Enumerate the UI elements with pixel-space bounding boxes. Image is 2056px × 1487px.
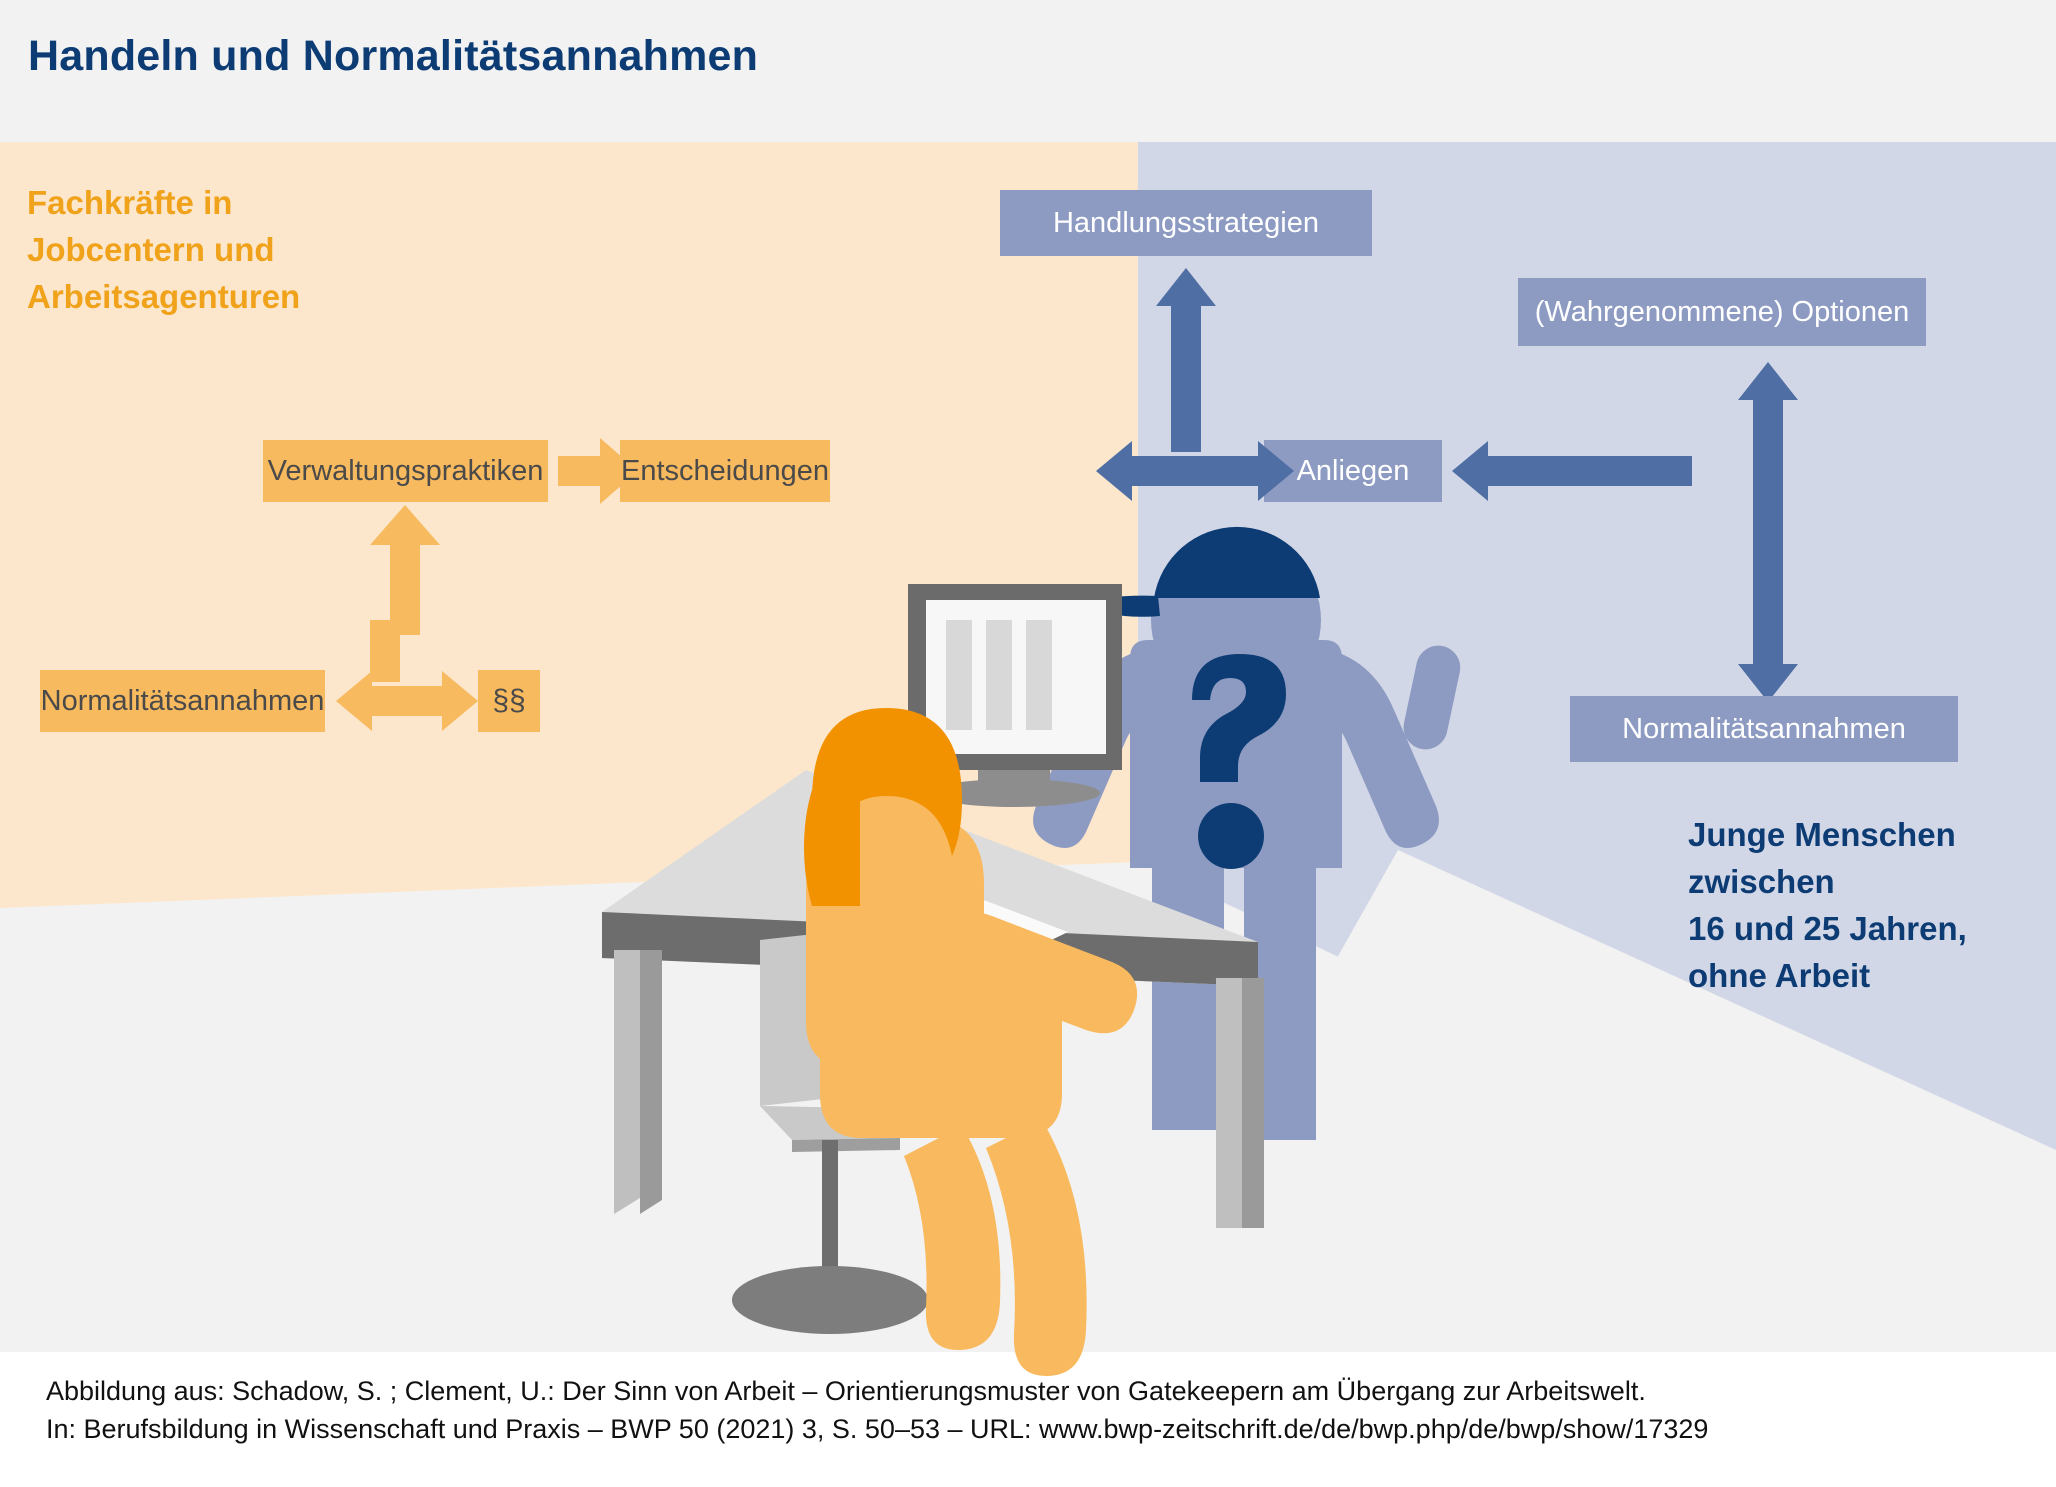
box-paragraphen[interactable]: §§	[478, 670, 540, 732]
left-group-label-line1: Fachkräfte in	[27, 180, 300, 227]
arrow-optionen-to-anliegen	[1452, 456, 1742, 486]
arrow-normalitaetsannahmen-to-verwaltungspraktiken	[370, 505, 440, 635]
arrow-stem-vertical-orange	[370, 620, 400, 682]
arrow-entscheidungen-anliegen	[1096, 456, 1294, 486]
left-group-label-line2: Jobcentern und	[27, 227, 300, 274]
source-caption-line2: In: Berufsbildung in Wissenschaft und Pr…	[46, 1410, 1708, 1448]
source-caption-line1: Abbildung aus: Schadow, S. ; Clement, U.…	[46, 1372, 1708, 1410]
box-verwaltungspraktiken[interactable]: Verwaltungspraktiken	[263, 440, 548, 502]
left-group-label-line3: Arbeitsagenturen	[27, 274, 300, 321]
box-wahrgenommene-optionen[interactable]: (Wahrgenommene) Optionen	[1518, 278, 1926, 346]
arrow-to-handlungsstrategien	[1156, 268, 1216, 458]
box-handlungsstrategien[interactable]: Handlungsstrategien	[1000, 190, 1372, 256]
right-group-label: Junge Menschen zwischen 16 und 25 Jahren…	[1688, 812, 1967, 999]
right-group-label-line4: ohne Arbeit	[1688, 953, 1967, 1000]
infographic-canvas: Handeln und Normalitätsannahmen Fachkräf…	[0, 0, 2056, 1487]
arrow-optionen-normalitaetsannahmen-rechts	[1738, 362, 1798, 702]
source-caption: Abbildung aus: Schadow, S. ; Clement, U.…	[46, 1372, 1708, 1449]
right-group-label-line1: Junge Menschen	[1688, 812, 1967, 859]
page-title: Handeln und Normalitätsannahmen	[28, 32, 758, 81]
right-group-label-line3: 16 und 25 Jahren,	[1688, 906, 1967, 953]
box-normalitaetsannahmen-rechts[interactable]: Normalitätsannahmen	[1570, 696, 1958, 762]
box-normalitaetsannahmen-links[interactable]: Normalitätsannahmen	[40, 670, 325, 732]
right-group-label-line2: zwischen	[1688, 859, 1967, 906]
left-group-label: Fachkräfte in Jobcentern und Arbeitsagen…	[27, 180, 300, 321]
box-entscheidungen[interactable]: Entscheidungen	[620, 440, 830, 502]
arrow-normalitaetsannahmen-paragraphen	[336, 671, 478, 731]
